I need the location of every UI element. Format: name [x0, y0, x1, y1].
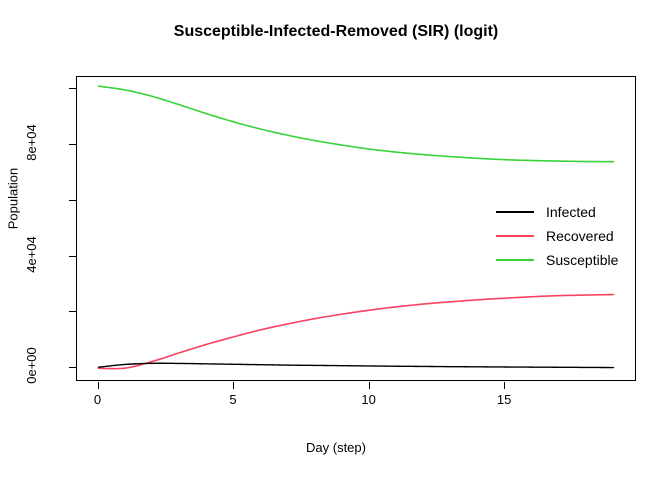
sir-chart-figure: Susceptible-Infected-Removed (SIR) (logi… [0, 0, 672, 480]
line-susceptible [98, 86, 613, 162]
legend-label-recovered: Recovered [546, 228, 614, 244]
legend-item-infected: Infected [496, 200, 618, 224]
y-axis-tick [69, 367, 76, 368]
line-recovered [98, 295, 613, 369]
x-axis-tick [98, 382, 99, 389]
y-axis-tick [69, 200, 76, 201]
legend-label-infected: Infected [546, 204, 596, 220]
x-axis-tick-label: 10 [349, 392, 389, 407]
legend-swatch-recovered [496, 235, 534, 237]
chart-title: Susceptible-Infected-Removed (SIR) (logi… [0, 23, 672, 41]
y-axis-tick [69, 311, 76, 312]
legend-item-recovered: Recovered [496, 224, 618, 248]
y-axis-tick [69, 88, 76, 89]
legend-swatch-infected [496, 211, 534, 213]
y-axis-tick [69, 256, 76, 257]
x-axis-label: Day (step) [0, 440, 672, 455]
x-axis-tick [233, 382, 234, 389]
x-axis-tick-label: 0 [78, 392, 118, 407]
y-axis-label: Population [6, 149, 21, 249]
y-axis-tick [69, 144, 76, 145]
x-axis-tick [369, 382, 370, 389]
x-axis-tick [504, 382, 505, 389]
x-axis-tick-label: 15 [484, 392, 524, 407]
legend-item-susceptible: Susceptible [496, 248, 618, 272]
legend-swatch-susceptible [496, 259, 534, 261]
chart-legend: Infected Recovered Susceptible [496, 200, 618, 272]
line-infected [98, 363, 613, 367]
y-axis-tick-label: 8e+04 [0, 135, 62, 150]
x-axis-tick-label: 5 [213, 392, 253, 407]
y-axis-tick-label: 4e+04 [0, 247, 62, 262]
y-axis-tick-label: 0e+00 [0, 358, 62, 373]
legend-label-susceptible: Susceptible [546, 252, 618, 268]
